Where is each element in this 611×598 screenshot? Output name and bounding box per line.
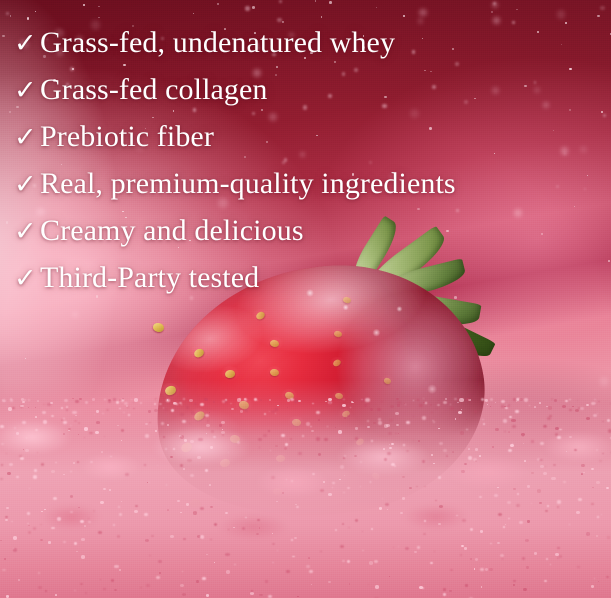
powder-grain (70, 495, 74, 498)
powder-grain (78, 422, 81, 424)
powder-grain (37, 452, 38, 453)
powder-grain (466, 429, 467, 430)
powder-grain (98, 531, 101, 534)
powder-grain (503, 419, 507, 422)
powder-grain (44, 509, 46, 511)
powder-grain (318, 419, 321, 421)
powder-grain (480, 568, 484, 571)
powder-grain (161, 422, 164, 424)
powder-grain (163, 436, 166, 438)
powder-grain (490, 543, 492, 545)
powder-grain (352, 402, 353, 403)
powder-grain (574, 449, 577, 451)
powder-grain (553, 464, 556, 466)
powder-grain (369, 561, 374, 565)
strawberry-seed-pit (190, 345, 208, 360)
powder-grain (79, 398, 82, 400)
powder-grain (340, 465, 344, 468)
powder-grain (165, 448, 167, 450)
powder-grain (103, 588, 106, 591)
powder-particle (587, 175, 589, 177)
powder-grain (464, 463, 467, 465)
powder-grain (583, 472, 585, 473)
powder-grain (546, 406, 548, 407)
powder-grain (173, 402, 176, 404)
powder-grain (468, 456, 472, 459)
powder-grain (6, 453, 8, 455)
strawberry-seed-pit (267, 366, 283, 379)
powder-grain (599, 460, 602, 462)
strawberry-seed-pit (281, 389, 297, 402)
powder-grain (35, 429, 38, 431)
powder-grain (487, 404, 489, 405)
powder-grain (474, 568, 476, 570)
strawberry-seed-pit (273, 452, 289, 465)
powder-grain (72, 398, 74, 399)
powder-grain (205, 414, 209, 417)
powder-grain (432, 420, 434, 421)
powder-grain (277, 550, 279, 551)
powder-grain (320, 551, 322, 553)
powder-grain (74, 542, 78, 545)
powder-grain (423, 398, 424, 399)
powder-grain (406, 450, 409, 453)
powder-particle (282, 21, 285, 24)
powder-grain (547, 505, 549, 507)
strawberry-seed (332, 358, 342, 367)
powder-grain (183, 398, 186, 400)
powder-grain (515, 410, 519, 413)
powder-grain (596, 449, 598, 450)
powder-grain (450, 404, 451, 405)
powder-grain (490, 398, 493, 401)
powder-grain (101, 451, 104, 453)
powder-grain (382, 498, 383, 499)
powder-grain (70, 511, 73, 513)
strawberry-seed-pit (331, 328, 345, 339)
powder-grain (398, 546, 399, 547)
powder-grain (513, 584, 515, 586)
powder-grain (48, 541, 51, 544)
powder-grain (470, 528, 473, 531)
powder-grain (549, 415, 552, 417)
powder-grain (381, 401, 383, 402)
powder-grain (177, 500, 180, 502)
powder-grain (43, 420, 47, 424)
powder-grain (85, 592, 87, 594)
powder-grain (12, 407, 15, 409)
powder-grain (591, 585, 594, 588)
powder-grain (365, 398, 370, 402)
powder-particle (9, 111, 12, 114)
powder-grain (510, 444, 514, 447)
powder-grain (419, 404, 423, 407)
powder-grain (490, 406, 492, 407)
powder-grain (384, 458, 387, 461)
check-icon: ✓ (14, 77, 40, 104)
powder-grain (103, 488, 106, 490)
powder-grain (455, 418, 457, 419)
powder-grain (481, 586, 483, 587)
powder-grain (439, 442, 443, 445)
powder-grain (397, 401, 401, 405)
powder-grain (224, 400, 227, 402)
powder-grain (167, 399, 169, 400)
powder-grain (422, 587, 425, 589)
powder-grain (145, 539, 149, 542)
powder-grain (123, 412, 125, 413)
powder-grain (92, 398, 95, 400)
powder-grain (230, 403, 232, 405)
powder-grain (286, 479, 287, 480)
powder-grain (133, 408, 135, 410)
powder-grain (271, 410, 275, 413)
powder-grain (222, 429, 223, 430)
powder-grain (254, 398, 258, 401)
powder-grain (240, 410, 243, 413)
powder-grain (387, 509, 388, 510)
strawberry-seed (270, 368, 280, 376)
powder-grain (70, 425, 72, 427)
strawberry-seed (180, 441, 194, 454)
powder-grain (459, 417, 460, 418)
powder-grain (206, 424, 210, 427)
powder-grain (497, 487, 499, 489)
powder-grain (511, 419, 515, 422)
powder-grain (527, 485, 530, 488)
powder-particle (403, 15, 405, 17)
powder-grain (324, 438, 328, 441)
powder-grain (205, 398, 207, 399)
powder-grain (544, 580, 546, 582)
powder-grain (506, 404, 510, 407)
powder-grain (250, 592, 254, 595)
powder-grain (210, 446, 214, 449)
powder-grain (581, 464, 585, 467)
powder-grain (260, 399, 262, 401)
powder-grain (383, 448, 386, 450)
strawberry-seed (190, 498, 202, 508)
powder-grain (96, 421, 99, 424)
powder-grain (367, 426, 370, 428)
powder-grain (263, 434, 267, 437)
powder-grain (338, 430, 342, 434)
powder-particle (600, 6, 604, 10)
powder-grain (237, 398, 242, 402)
powder-grain (117, 425, 119, 426)
powder-grain (156, 576, 160, 579)
powder-grain (204, 398, 208, 401)
powder-grain (63, 474, 65, 476)
powder-grain (214, 562, 216, 564)
powder-grain (80, 520, 84, 523)
powder-grain (140, 402, 143, 404)
powder-grain (566, 451, 567, 452)
powder-grain (244, 398, 247, 401)
powder-grain (189, 423, 190, 424)
powder-grain (335, 529, 338, 531)
powder-grain (20, 457, 24, 460)
powder-grain (272, 562, 274, 564)
powder-grain (38, 586, 42, 589)
powder-grain (166, 399, 170, 402)
powder-particle (601, 111, 603, 113)
powder-grain (42, 411, 46, 414)
powder-grain (200, 507, 204, 510)
powder-grain (462, 519, 466, 522)
powder-particle (580, 146, 588, 154)
powder-grain (470, 558, 472, 560)
powder-grain (606, 576, 609, 578)
powder-grain (197, 535, 201, 538)
powder-grain (259, 527, 261, 528)
powder-grain (63, 541, 66, 543)
powder-grain (193, 511, 197, 514)
powder-grain (597, 516, 600, 518)
powder-grain (251, 590, 253, 592)
powder-grain (149, 555, 151, 557)
powder-grain (239, 398, 241, 400)
powder-grain (445, 398, 447, 399)
powder-grain (159, 572, 162, 574)
powder-grain (393, 547, 395, 548)
powder-grain (184, 439, 187, 442)
powder-grain (594, 403, 597, 405)
powder-grain (578, 498, 581, 501)
powder-grain (81, 538, 84, 541)
powder-particle (279, 0, 282, 3)
powder-grain (545, 510, 548, 512)
powder-grain (14, 427, 16, 429)
powder-grain (294, 537, 297, 539)
powder-grain (389, 444, 390, 445)
powder-grain (580, 407, 584, 410)
powder-grain (64, 399, 68, 402)
powder-grain (206, 433, 207, 434)
powder-grain (282, 492, 284, 494)
powder-grain (206, 554, 208, 555)
powder-grain (328, 493, 332, 496)
powder-grain (22, 401, 25, 403)
powder-grain (527, 520, 530, 522)
powder-grain (591, 468, 594, 470)
powder-grain (507, 501, 511, 504)
powder-grain (414, 551, 417, 553)
powder-particle (492, 2, 498, 8)
powder-grain (13, 536, 17, 540)
strawberry-seed (224, 369, 235, 378)
powder-grain (318, 453, 321, 455)
powder-grain (293, 420, 294, 421)
powder-grain (506, 404, 508, 406)
powder-grain (28, 531, 31, 534)
powder-grain (458, 411, 462, 414)
powder-grain (562, 405, 566, 408)
powder-grain (402, 497, 405, 500)
powder-grain (63, 421, 67, 424)
powder-grain (200, 403, 204, 406)
powder-grain (548, 406, 552, 409)
powder-grain (197, 456, 201, 459)
powder-grain (25, 449, 29, 453)
powder-particle (491, 11, 493, 13)
powder-grain (10, 398, 13, 400)
powder-grain (389, 576, 390, 577)
strawberry-seed (334, 330, 343, 338)
strawberry-seed (238, 400, 249, 410)
powder-particle (98, 6, 100, 8)
powder-grain (187, 459, 191, 463)
powder-grain (342, 399, 344, 401)
powder-grain (602, 453, 604, 455)
strawberry-seed-pit (252, 309, 268, 322)
powder-grain (433, 463, 434, 464)
powder-grain (297, 596, 299, 598)
powder-grain (417, 399, 419, 401)
powder-grain (122, 399, 124, 401)
powder-grain (145, 423, 148, 425)
strawberry-shadow (164, 468, 494, 542)
powder-grain (244, 398, 247, 400)
powder-grain (492, 446, 495, 448)
powder-grain (375, 585, 379, 589)
powder-grain (166, 484, 168, 485)
powder-grain (593, 414, 597, 417)
powder-grain (10, 399, 14, 402)
powder-grain (396, 398, 399, 400)
powder-grain (546, 558, 549, 560)
powder-grain (196, 580, 200, 583)
powder-grain (38, 572, 41, 574)
powder-grain (371, 440, 373, 442)
powder-grain (430, 404, 433, 406)
powder-grain (327, 426, 328, 427)
powder-grain (413, 416, 414, 417)
powder-grain (513, 580, 516, 583)
powder-grain (13, 548, 17, 552)
benefit-item-2: ✓ Grass-fed collagen (14, 75, 574, 122)
strawberry-seed-pit (149, 320, 169, 336)
powder-grain (312, 403, 314, 405)
powder-grain (519, 398, 523, 401)
powder-particle (329, 1, 332, 4)
powder-grain (233, 527, 235, 528)
powder-grain (388, 432, 392, 435)
powder-grain (76, 551, 78, 553)
powder-grain (497, 542, 500, 544)
powder-particle (72, 312, 77, 317)
powder-grain (509, 416, 512, 418)
powder-grain (424, 520, 426, 521)
powder-grain (286, 570, 290, 574)
powder-particle (193, 13, 194, 14)
powder-grain (485, 399, 488, 402)
powder-grain (275, 445, 278, 447)
powder-grain (104, 436, 105, 437)
powder-grain (405, 404, 406, 405)
powder-grain (434, 551, 436, 552)
powder-grain (344, 475, 345, 476)
check-icon: ✓ (14, 265, 40, 292)
powder-grain (205, 469, 208, 472)
powder-grain (268, 430, 270, 432)
powder-grain (459, 398, 463, 402)
powder-grain (298, 400, 301, 403)
powder-grain (5, 519, 8, 521)
powder-grain (458, 398, 460, 400)
powder-grain (149, 422, 151, 423)
powder-grain (550, 564, 552, 565)
powder-grain (16, 476, 20, 479)
powder-grain (342, 523, 344, 525)
powder-grain (367, 420, 370, 422)
powder-grain (557, 436, 561, 439)
strawberry-seed-pit (160, 383, 180, 399)
powder-grain (540, 442, 544, 445)
powder-grain (387, 452, 391, 455)
benefit-label: Real, premium-quality ingredients (40, 169, 456, 199)
powder-grain (259, 594, 262, 597)
powder-grain (543, 425, 547, 428)
powder-grain (207, 420, 209, 422)
powder-grain (74, 420, 76, 422)
powder-grain (416, 486, 418, 487)
powder-grain (154, 409, 158, 412)
powder-grain (311, 584, 312, 585)
benefit-label: Grass-fed, undenatured whey (40, 28, 395, 58)
powder-grain (522, 557, 526, 560)
powder-grain (269, 411, 270, 412)
powder-grain (302, 435, 304, 436)
powder-grain (461, 409, 462, 410)
powder-grain (89, 432, 93, 435)
powder-grain (57, 517, 61, 520)
powder-grain (209, 484, 211, 486)
powder-grain (170, 535, 174, 538)
powder-grain (500, 554, 504, 557)
powder-grain (119, 569, 122, 571)
powder-grain (242, 527, 246, 530)
powder-grain (594, 578, 596, 579)
powder-grain (452, 451, 454, 453)
powder-grain (531, 472, 533, 474)
powder-grain (28, 407, 29, 408)
powder-grain (504, 406, 505, 407)
powder-grain (1, 443, 5, 446)
powder-grain (228, 529, 229, 530)
powder-grain (460, 554, 462, 556)
powder-grain (272, 533, 273, 534)
powder-grain (275, 408, 278, 411)
powder-grain (113, 524, 116, 526)
powder-grain (9, 463, 13, 466)
powder-grain (474, 410, 477, 413)
strawberry-seed (273, 488, 282, 495)
powder-grain (287, 399, 290, 402)
powder-grain (95, 431, 99, 434)
powder-grain (144, 513, 148, 516)
powder-grain (539, 402, 541, 404)
powder-grain (234, 564, 236, 565)
powder-grain (245, 517, 246, 518)
powder-grain (495, 402, 496, 403)
powder-grain (116, 401, 120, 404)
powder-grain (75, 400, 79, 403)
powder-grain (481, 398, 484, 400)
powder-grain (180, 584, 184, 587)
powder-grain (84, 525, 87, 527)
powder-grain (519, 521, 523, 524)
